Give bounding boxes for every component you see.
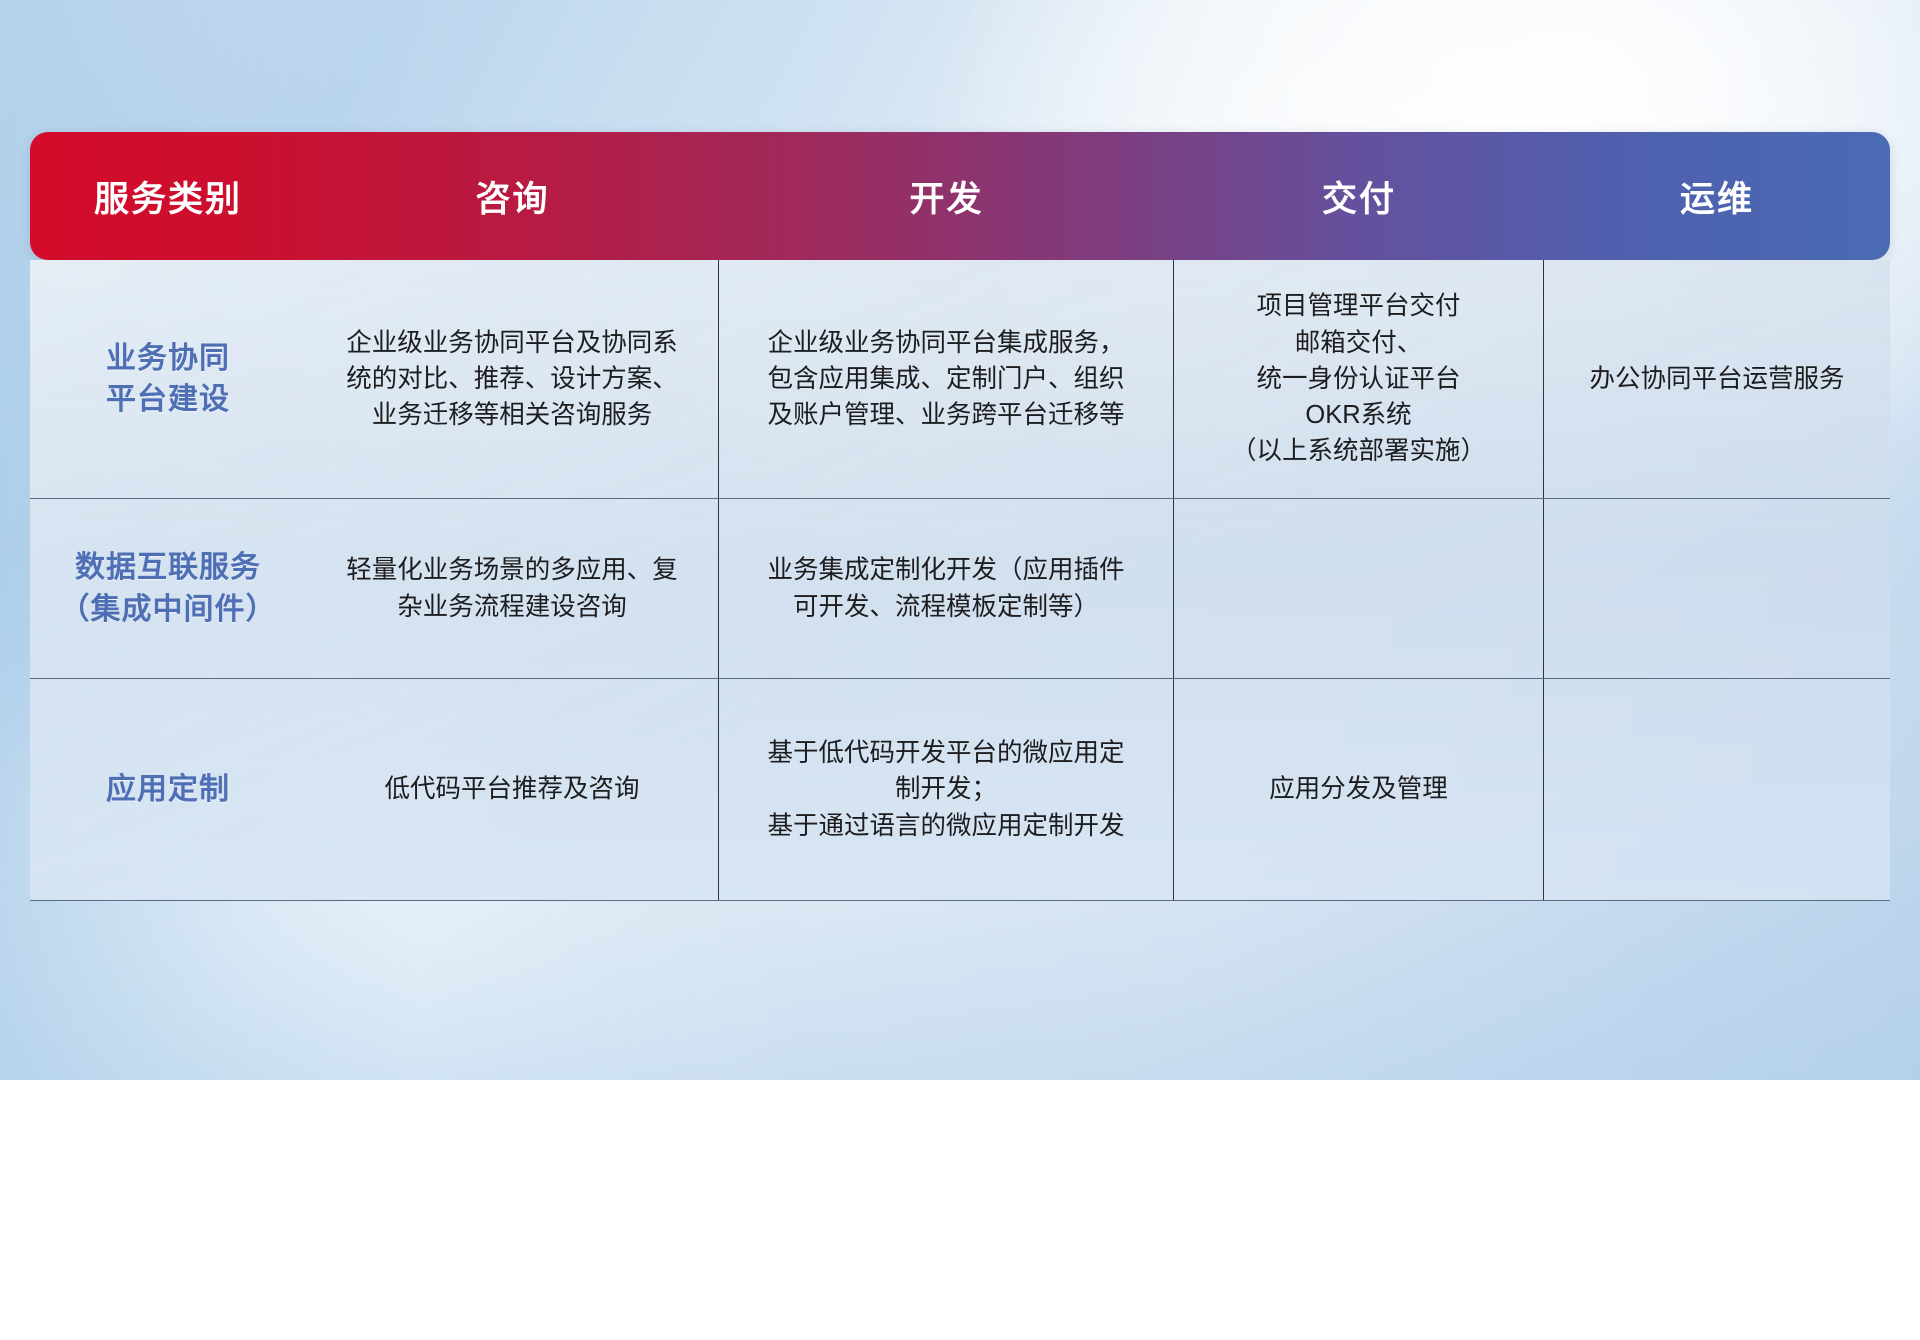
cell-delivery (1174, 499, 1544, 678)
service-matrix-table: 服务类别 咨询 开发 交付 运维 业务协同 平台建设 企业级业务协同平台及协同系… (30, 132, 1890, 901)
slide-canvas: 服务类别 咨询 开发 交付 运维 业务协同 平台建设 企业级业务协同平台及协同系… (0, 0, 1920, 1080)
column-header-consulting: 咨询 (306, 132, 719, 260)
cell-delivery: 项目管理平台交付 邮箱交付、 统一身份认证平台 OKR系统 （以上系统部署实施） (1174, 260, 1544, 498)
cell-operations (1544, 679, 1890, 900)
column-header-operations: 运维 (1544, 132, 1890, 260)
column-header-category: 服务类别 (30, 132, 306, 260)
table-body: 业务协同 平台建设 企业级业务协同平台及协同系 统的对比、推荐、设计方案、 业务… (30, 260, 1890, 901)
table-row: 应用定制 低代码平台推荐及咨询 基于低代码开发平台的微应用定 制开发； 基于通过… (30, 678, 1890, 901)
cell-operations: 办公协同平台运营服务 (1544, 260, 1890, 498)
cell-consulting: 轻量化业务场景的多应用、复 杂业务流程建设咨询 (306, 499, 719, 678)
cell-development: 企业级业务协同平台集成服务， 包含应用集成、定制门户、组织 及账户管理、业务跨平… (719, 260, 1174, 498)
cell-consulting: 企业级业务协同平台及协同系 统的对比、推荐、设计方案、 业务迁移等相关咨询服务 (306, 260, 719, 498)
column-header-development: 开发 (719, 132, 1174, 260)
cell-development: 业务集成定制化开发（应用插件 可开发、流程模板定制等） (719, 499, 1174, 678)
cell-development: 基于低代码开发平台的微应用定 制开发； 基于通过语言的微应用定制开发 (719, 679, 1174, 900)
table-row: 业务协同 平台建设 企业级业务协同平台及协同系 统的对比、推荐、设计方案、 业务… (30, 260, 1890, 498)
cell-operations (1544, 499, 1890, 678)
cell-delivery: 应用分发及管理 (1174, 679, 1544, 900)
row-category-label: 数据互联服务 （集成中间件） (30, 499, 306, 678)
table-row: 数据互联服务 （集成中间件） 轻量化业务场景的多应用、复 杂业务流程建设咨询 业… (30, 498, 1890, 678)
table-header-row: 服务类别 咨询 开发 交付 运维 (30, 132, 1890, 260)
row-category-label: 应用定制 (30, 679, 306, 900)
column-header-delivery: 交付 (1174, 132, 1544, 260)
cell-consulting: 低代码平台推荐及咨询 (306, 679, 719, 900)
row-category-label: 业务协同 平台建设 (30, 260, 306, 498)
